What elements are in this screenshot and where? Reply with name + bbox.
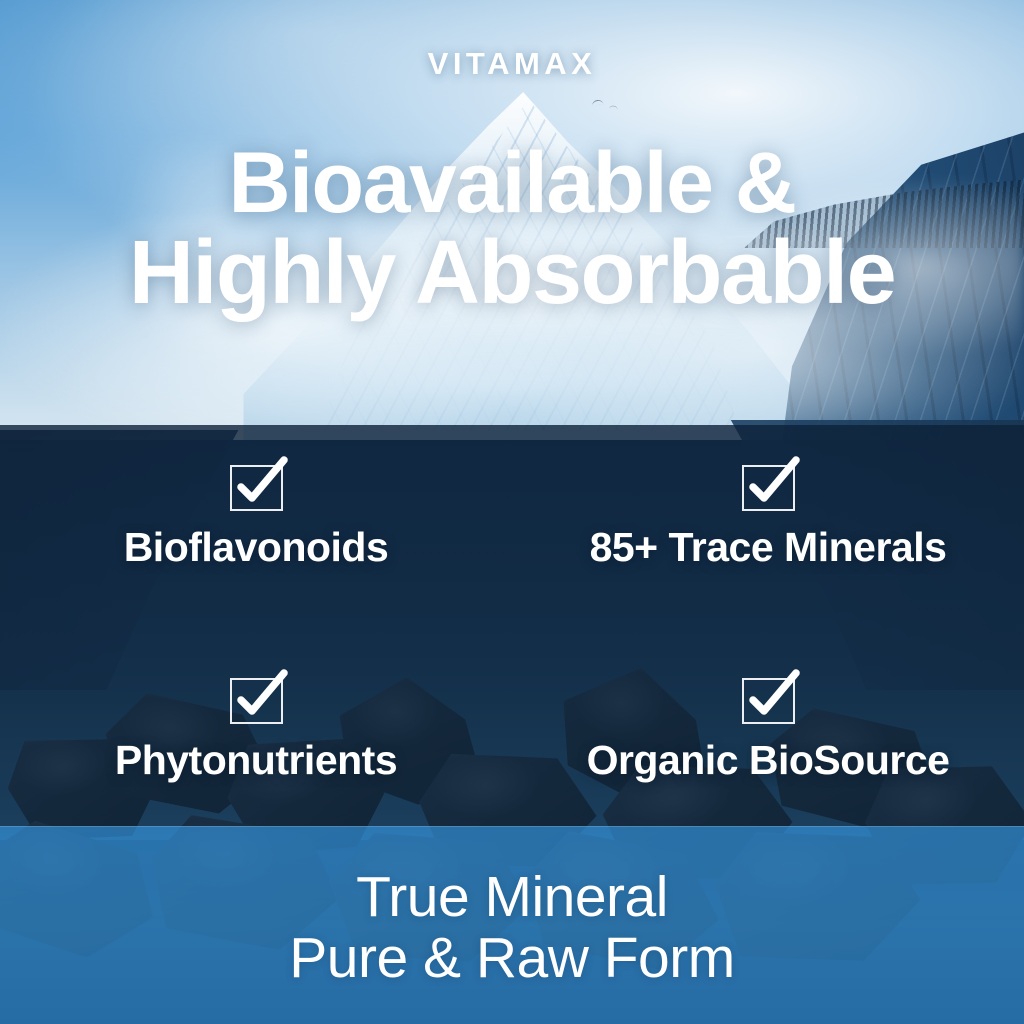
feature-item-phytonutrients: Phytonutrients	[0, 668, 512, 781]
headline-line-2: Highly Absorbable	[0, 228, 1024, 320]
feature-row: Phytonutrients Organic BioSource	[0, 668, 1024, 781]
feature-list: Bioflavonoids 85+ Trace Minerals	[0, 455, 1024, 781]
page-title: Bioavailable & Highly Absorbable	[0, 140, 1024, 320]
checkbox-checked-icon	[227, 455, 285, 513]
feature-item-bioflavonoids: Bioflavonoids	[0, 455, 512, 568]
footer-tagline: True Mineral Pure & Raw Form	[0, 867, 1024, 990]
feature-label: Bioflavonoids	[124, 527, 389, 568]
checkbox-checked-icon	[739, 455, 797, 513]
headline-line-1: Bioavailable &	[0, 140, 1024, 228]
promo-poster: VITAMAX Bioavailable & Highly Absorbable…	[0, 0, 1024, 1024]
feature-label: Organic BioSource	[587, 740, 950, 781]
feature-label: 85+ Trace Minerals	[590, 527, 947, 568]
checkbox-checked-icon	[227, 668, 285, 726]
brand-logo: VITAMAX	[0, 46, 1024, 82]
feature-item-trace-minerals: 85+ Trace Minerals	[512, 455, 1024, 568]
feature-row: Bioflavonoids 85+ Trace Minerals	[0, 455, 1024, 568]
footer-line-2: Pure & Raw Form	[0, 928, 1024, 990]
checkbox-checked-icon	[739, 668, 797, 726]
feature-label: Phytonutrients	[115, 740, 397, 781]
footer-line-1: True Mineral	[0, 867, 1024, 929]
poster-content: VITAMAX Bioavailable & Highly Absorbable…	[0, 0, 1024, 1024]
feature-item-organic-biosource: Organic BioSource	[512, 668, 1024, 781]
